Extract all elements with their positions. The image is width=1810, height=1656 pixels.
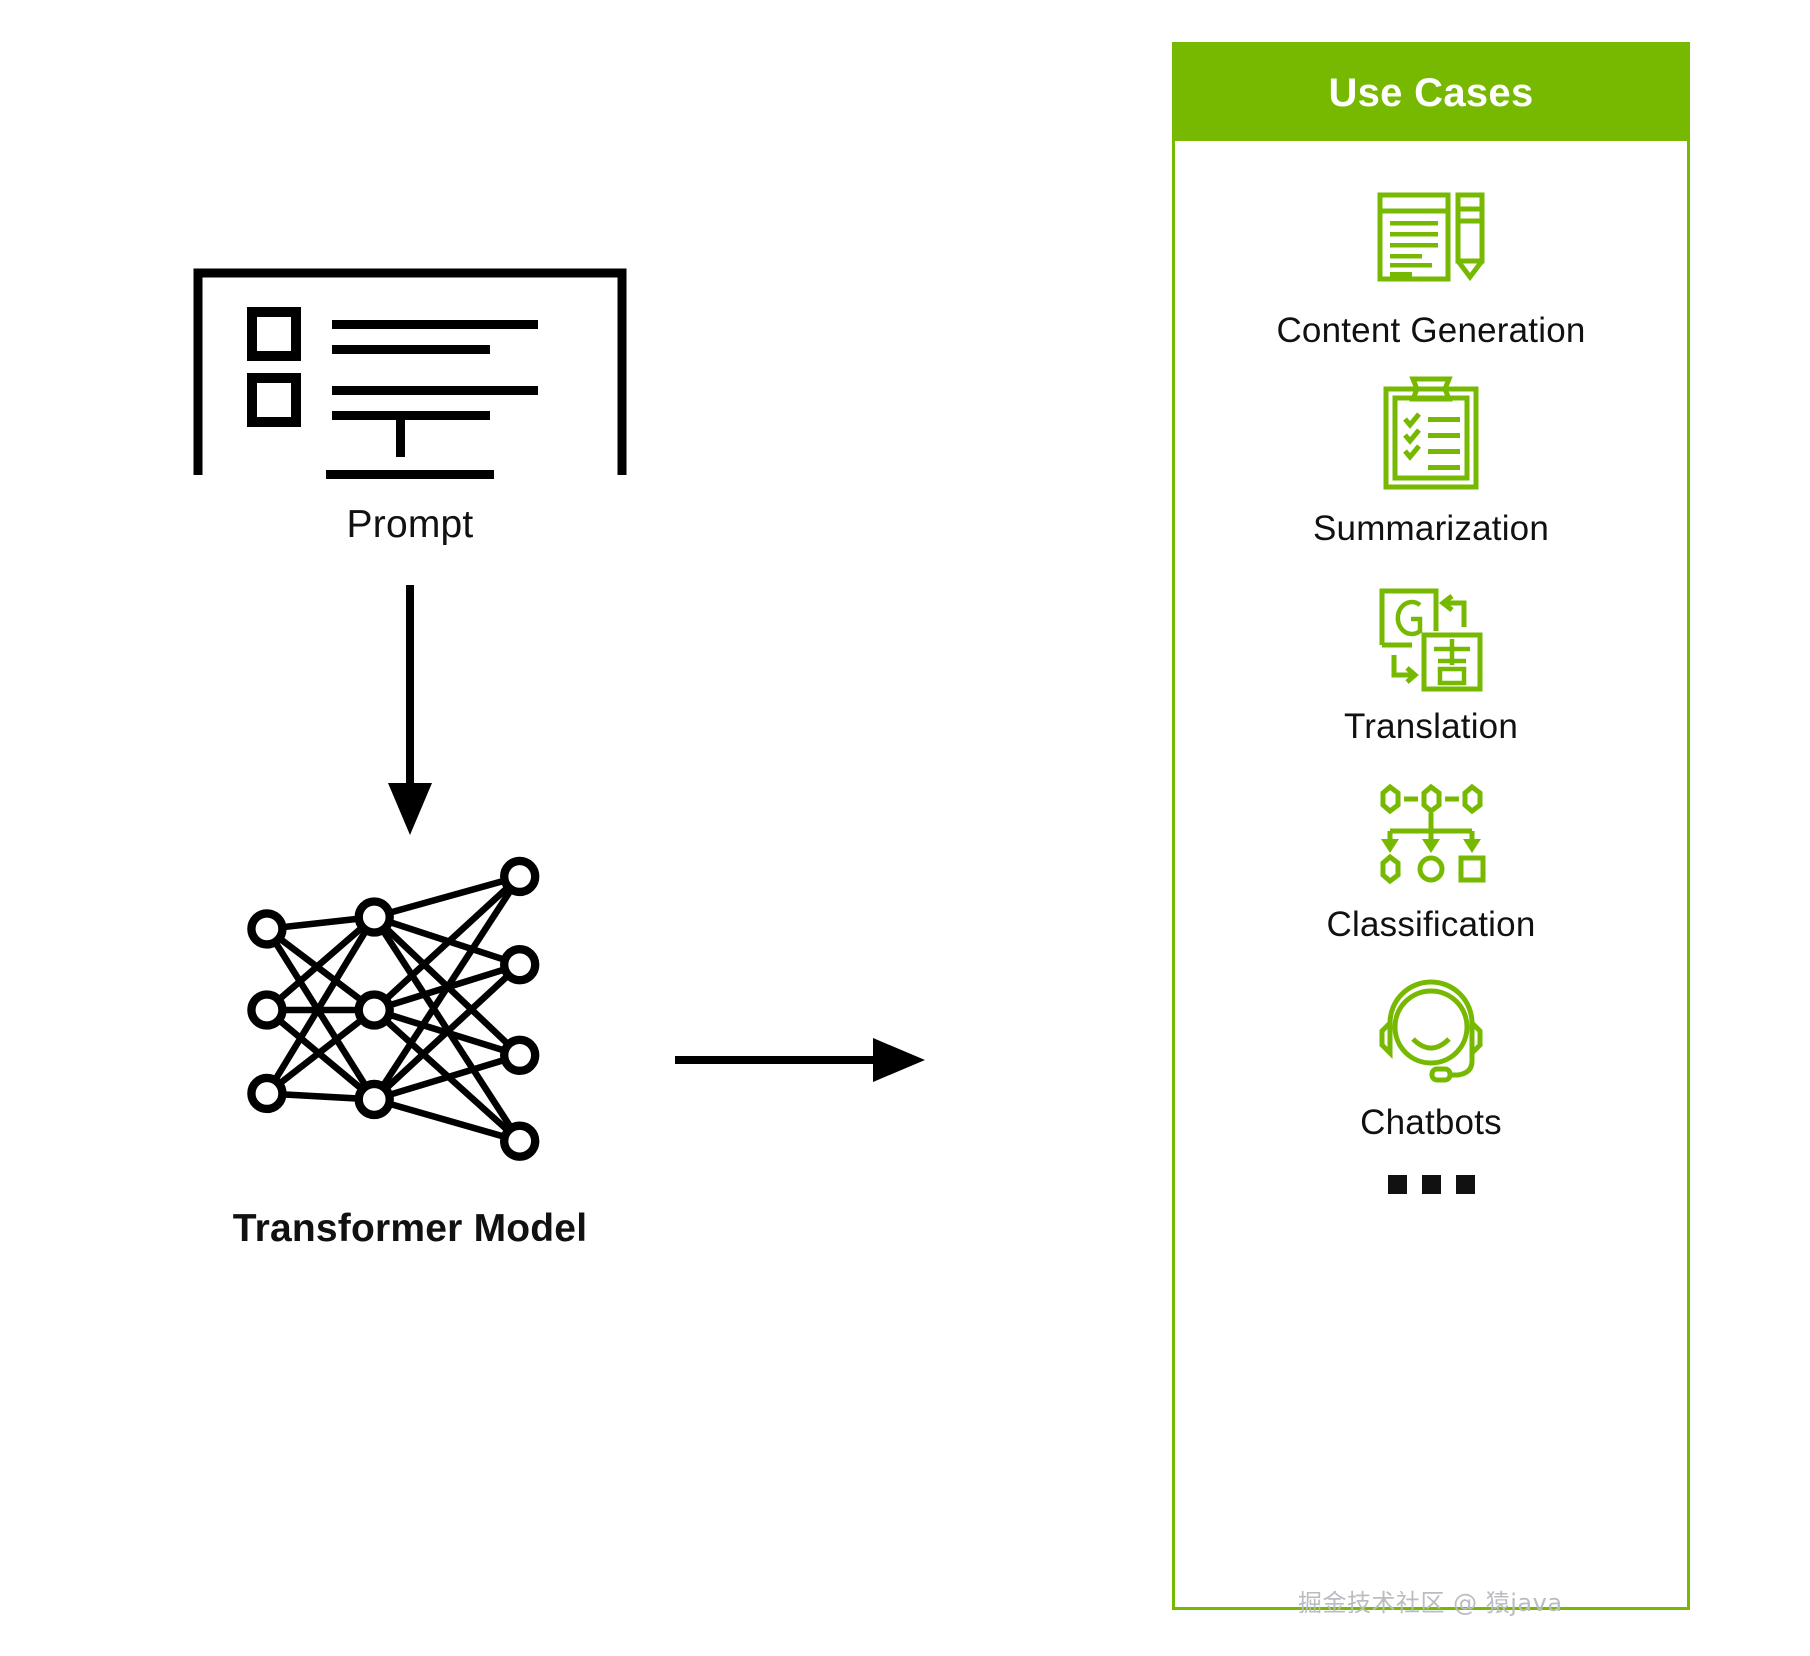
ellipsis-indicator [1388, 1175, 1475, 1194]
arrow-right-icon [665, 1020, 935, 1100]
ellipsis-dot [1422, 1175, 1441, 1194]
prompt-node: Prompt [180, 265, 640, 547]
use-case-item-content-generation[interactable]: Content Generation [1175, 173, 1687, 351]
clipboard-checklist-icon [1368, 371, 1494, 497]
use-case-item-chatbots[interactable]: Chatbots [1175, 965, 1687, 1143]
use-case-label: Chatbots [1360, 1103, 1502, 1143]
ellipsis-dot [1388, 1175, 1407, 1194]
flow-column: Prompt [0, 0, 1000, 1656]
translate-icon [1368, 569, 1494, 695]
use-case-label: Classification [1327, 905, 1536, 945]
watermark: 掘金技术社区 @ 猿java [1298, 1583, 1563, 1618]
transformer-model-node: Transformer Model [120, 855, 700, 1251]
headset-smile-icon [1368, 965, 1494, 1091]
use-cases-list: Content Generation [1175, 141, 1687, 1194]
ellipsis-dot [1456, 1175, 1475, 1194]
use-case-item-translation[interactable]: Translation [1175, 569, 1687, 747]
neural-network-icon [120, 855, 700, 1165]
arrow-down-icon [300, 585, 520, 845]
use-case-label: Translation [1344, 707, 1518, 747]
classification-tree-icon [1368, 767, 1494, 893]
use-case-item-summarization[interactable]: Summarization [1175, 371, 1687, 549]
document-pencil-icon [1368, 173, 1494, 299]
prompt-label: Prompt [180, 503, 640, 547]
monitor-checklist-icon [180, 265, 640, 475]
monitor-stand-base [180, 462, 640, 492]
use-case-label: Content Generation [1276, 311, 1585, 351]
page-title: Use Cases [1328, 71, 1533, 116]
use-case-label: Summarization [1313, 509, 1549, 549]
use-cases-panel: Use Cases [1172, 42, 1690, 1610]
transformer-model-label: Transformer Model [120, 1207, 700, 1251]
use-cases-header: Use Cases [1175, 45, 1687, 141]
use-case-item-classification[interactable]: Classification [1175, 767, 1687, 945]
